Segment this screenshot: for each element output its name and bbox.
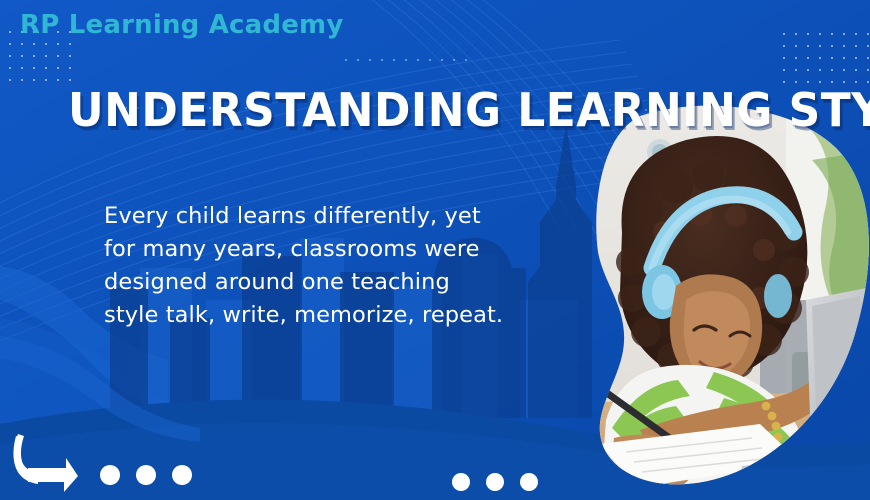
dot-row-upper-middle bbox=[340, 54, 470, 64]
paragraph-line: Every child learns differently, yet bbox=[104, 200, 574, 233]
dot bbox=[100, 465, 120, 485]
brand-logo-prefix: RP bbox=[20, 10, 59, 40]
dot bbox=[172, 465, 192, 485]
page-title: UNDERSTANDING LEARNING STYLES bbox=[68, 83, 870, 137]
promo-banner: RP Learning Academy UNDERSTANDING LEARNI… bbox=[0, 0, 870, 500]
dot bbox=[486, 473, 504, 491]
brand-logo[interactable]: RP Learning Academy bbox=[20, 10, 343, 41]
brand-logo-name: Learning Academy bbox=[69, 10, 344, 40]
dots-row-bottom-center bbox=[452, 473, 538, 491]
dot bbox=[452, 473, 470, 491]
body-paragraph: Every child learns differently, yet for … bbox=[104, 200, 574, 332]
paragraph-line: designed around one teaching bbox=[104, 266, 574, 299]
dots-row-bottom-left bbox=[100, 465, 192, 485]
paragraph-line: style talk, write, memorize, repeat. bbox=[104, 299, 574, 332]
paragraph-line: for many years, classrooms were bbox=[104, 233, 574, 266]
dot bbox=[136, 465, 156, 485]
dot bbox=[520, 473, 538, 491]
dot-grid-top-right bbox=[778, 28, 870, 90]
curved-arrow-right-icon bbox=[8, 432, 80, 494]
